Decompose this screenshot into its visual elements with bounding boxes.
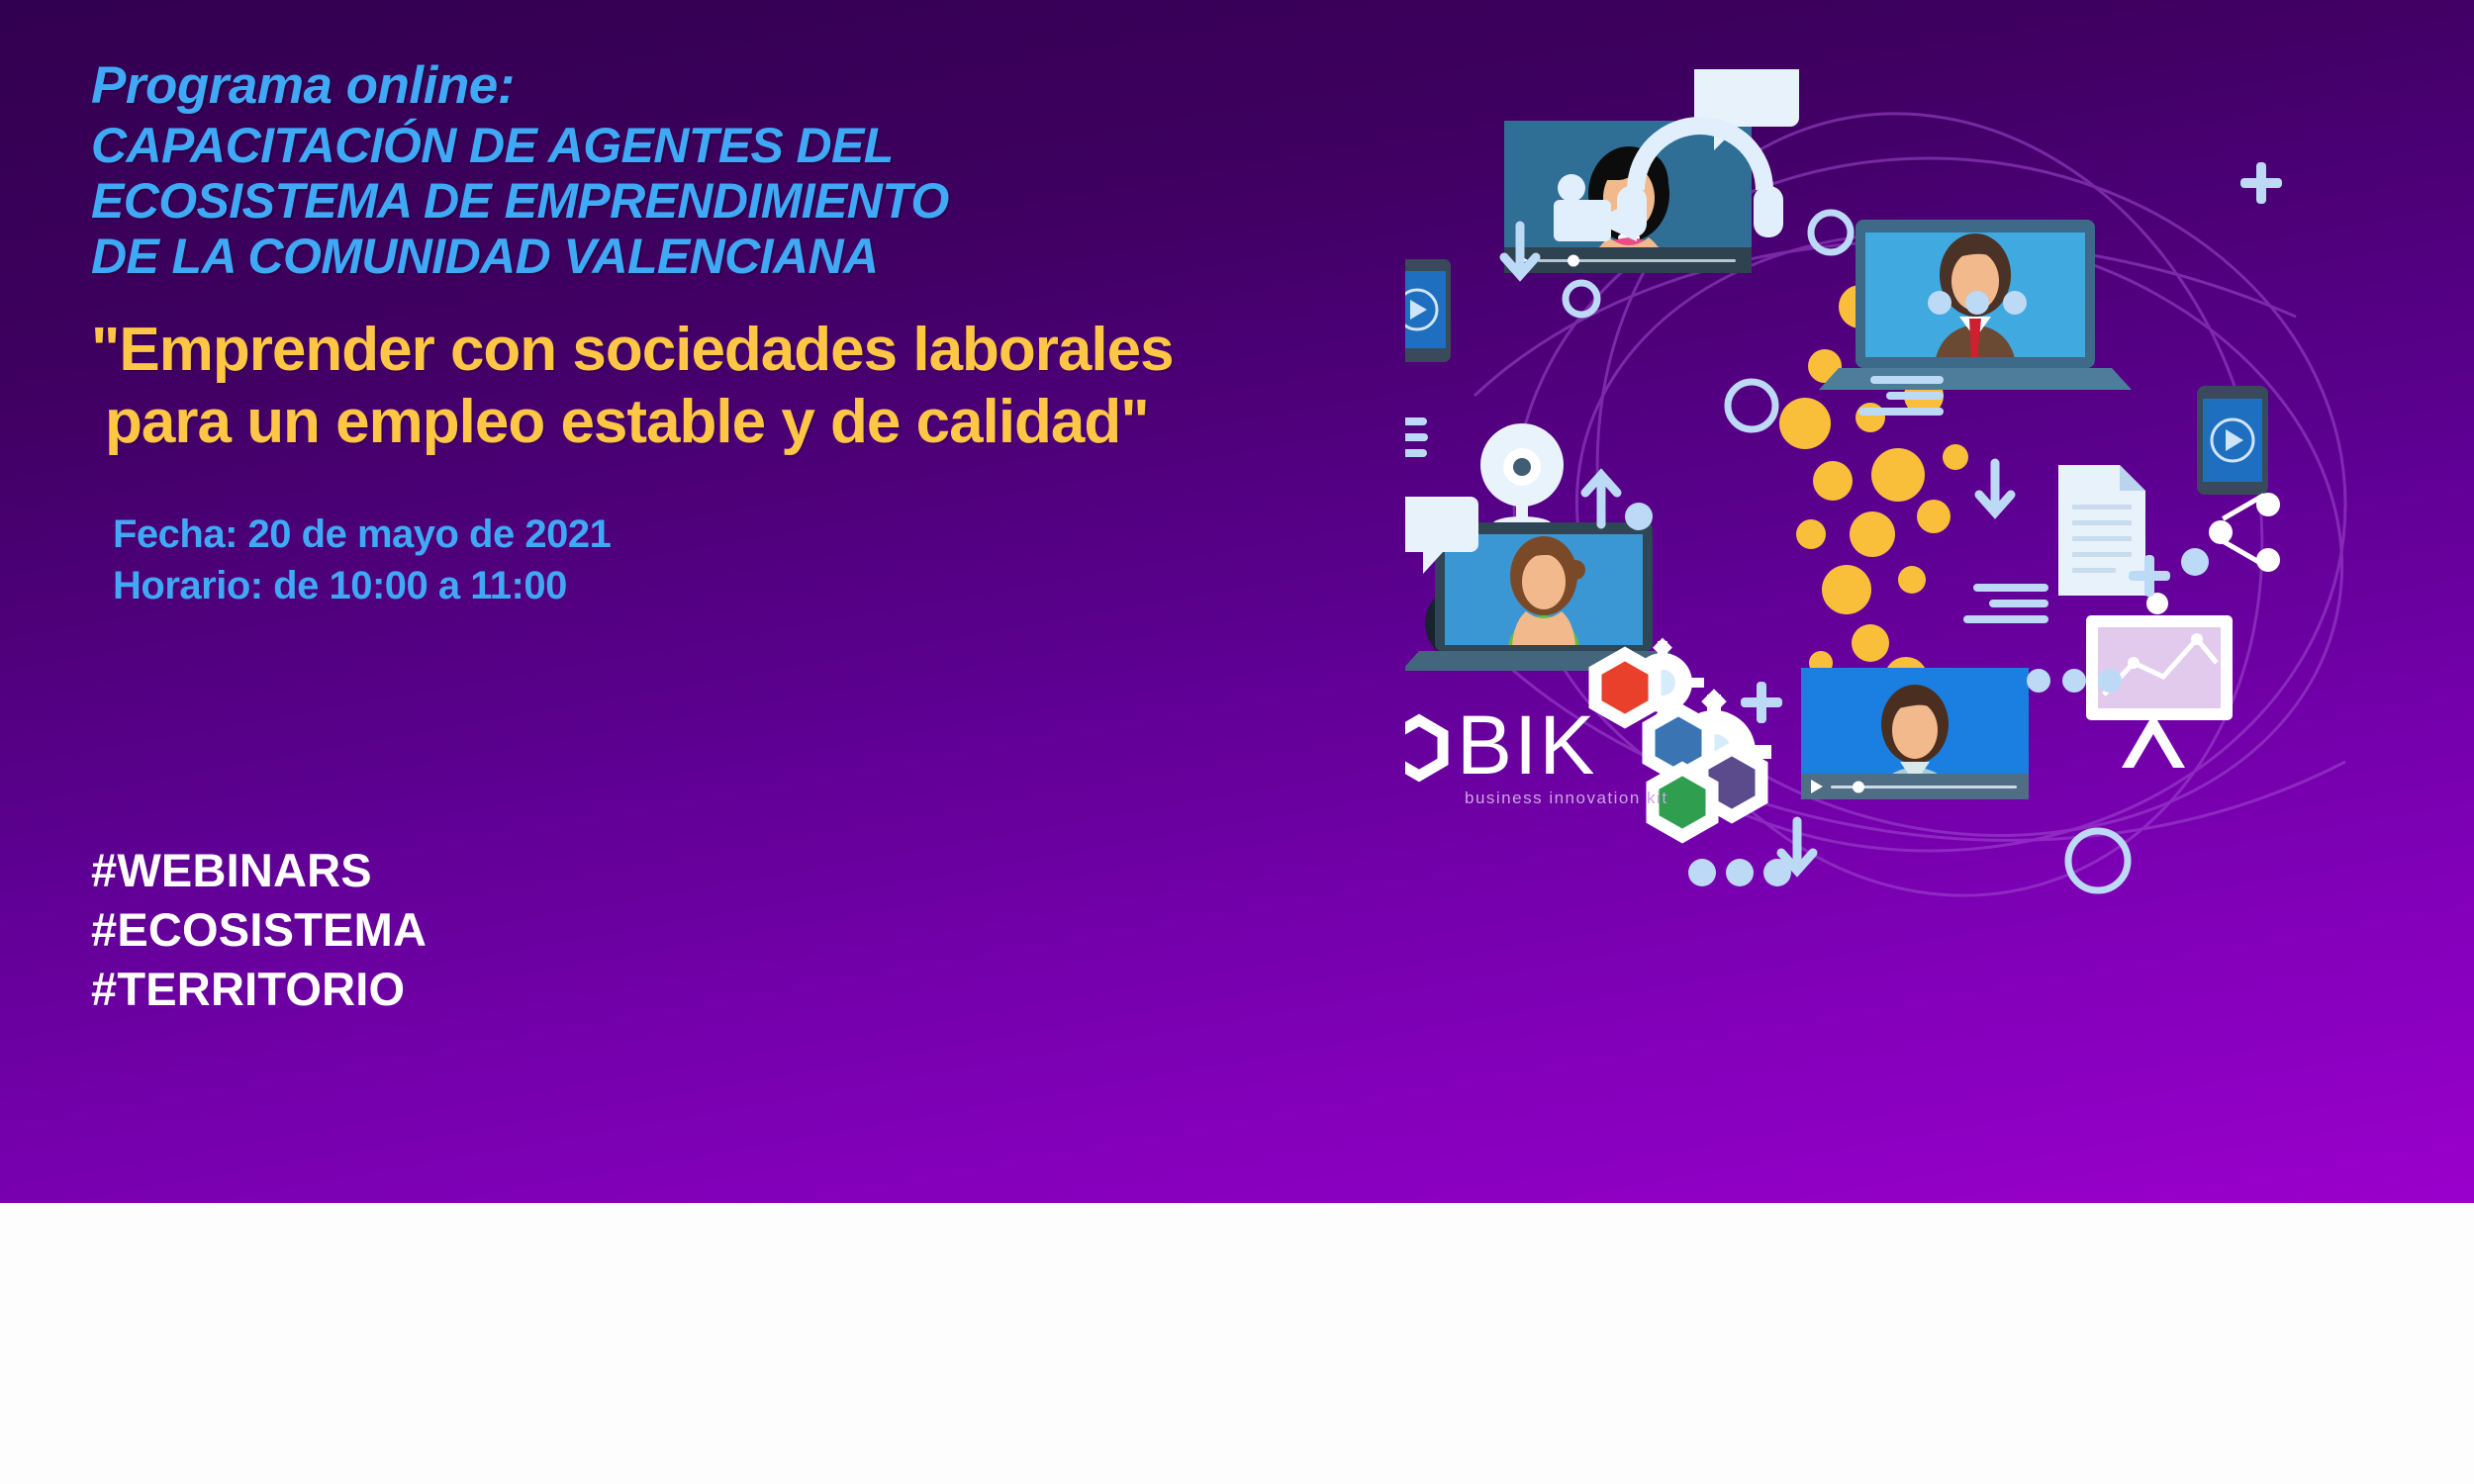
video-player-secondary [1801,668,2029,799]
program-title-line-1: CAPACITACIÓN DE AGENTES DEL [91,118,1368,173]
poster-canvas: Programa online: CAPACITACIÓN DE AGENTES… [0,0,2474,1484]
sponsors-footer: FINANCIAN: PATROCINAN: ORGANIZAN: INSTIT… [0,1203,2474,1484]
text-lines-icon-mid [1858,376,1944,416]
webcam-icon [1480,423,1564,532]
hashtag-webinars: #WEBINARS [91,841,427,900]
headline-block: Programa online: CAPACITACIÓN DE AGENTES… [91,59,1368,611]
bik-tagline: business innovation kit [1465,788,1668,807]
hero-panel: Programa online: CAPACITACIÓN DE AGENTES… [0,0,2474,1203]
hashtag-ecosistema: #ECOSISTEMA [91,900,427,960]
program-title-line-3: DE LA COMUNIDAD VALENCIANA [91,229,1368,284]
text-lines-icon-right [1963,584,2048,623]
hashtag-list: #WEBINARS #ECOSISTEMA #TERRITORIO [91,841,427,1019]
webinar-illustration: BIK business innovation kit [1405,69,2474,1138]
session-quote-line-2: para un empleo estable y de calidad" [91,386,1368,458]
session-quote: "Emprender con sociedades laborales para… [91,314,1368,458]
share-icon-right [2209,493,2280,572]
hashtag-territorio: #TERRITORIO [91,960,427,1019]
program-kicker: Programa online: [91,59,1368,112]
event-schedule: Fecha: 20 de mayo de 2021 Horario: de 10… [91,510,1368,610]
bik-wordmark: BIK [1457,698,1596,791]
tablet-play-icon [1405,259,1451,362]
event-time: Horario: de 10:00 a 11:00 [113,561,1368,611]
program-title: CAPACITACIÓN DE AGENTES DEL ECOSISTEMA D… [91,118,1368,284]
text-lines-icon-left [1405,417,1428,457]
tablet-play-icon-right [2197,386,2268,495]
session-quote-line-1: "Emprender con sociedades laborales [91,314,1368,386]
program-title-line-2: ECOSISTEMA DE EMPRENDIMIENTO [91,173,1368,229]
event-date: Fecha: 20 de mayo de 2021 [113,510,1368,560]
